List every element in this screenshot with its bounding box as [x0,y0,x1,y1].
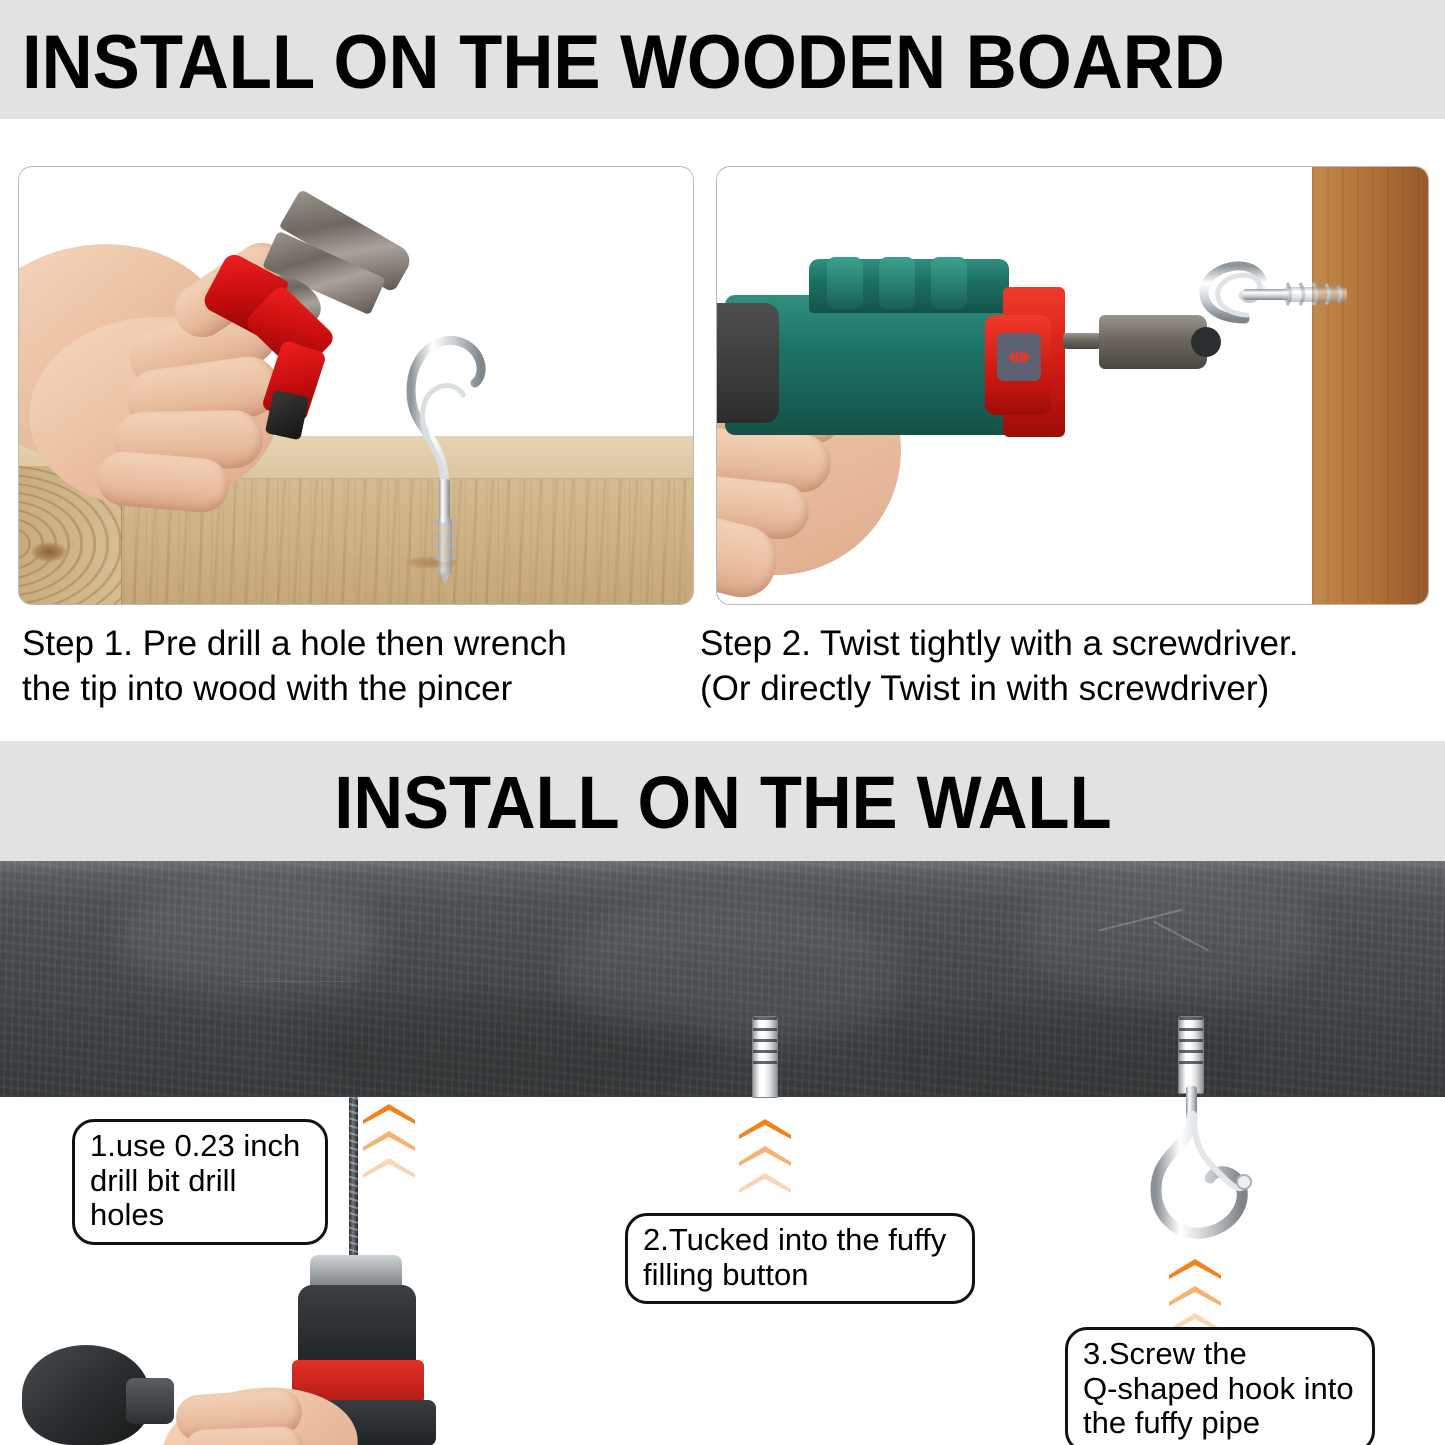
driver-vent [827,257,863,309]
plank-knot [31,542,67,562]
step1-photo-panel [18,166,694,605]
banner-wall-title: INSTALL ON THE WALL [334,766,1111,840]
chevron-up-icon [1168,1285,1222,1307]
callout-tucked-into-filling: 2.Tucked into the fuffy filling button [625,1213,975,1304]
wall-anchor-ribs [1179,1017,1203,1065]
step1-caption: Step 1. Pre drill a hole then wrench the… [22,622,692,712]
wall-anchor-body [1178,1016,1204,1094]
chevron-up-icon [738,1118,792,1140]
banner-install-wooden-board: INSTALL ON THE WOODEN BOARD [0,0,1445,119]
concrete-wall-image [0,861,1445,1097]
chevron-up-icon [1168,1258,1222,1280]
step2-caption: Step 2. Twist tightly with a screwdriver… [700,622,1440,712]
chevron-group-anchor [738,1118,792,1199]
callout-drill-holes: 1.use 0.23 inch drill bit drill holes [72,1119,328,1245]
wall-blotch [300,1001,720,1091]
infographic-page: INSTALL ON THE WOODEN BOARD [0,0,1445,1445]
step2-photo-panel [716,166,1429,605]
drill-bit [349,1097,358,1265]
chevron-up-icon [362,1103,416,1125]
chevron-up-icon [362,1157,416,1179]
wall-blotch [1020,879,1320,999]
banner-wooden-title: INSTALL ON THE WOODEN BOARD [22,25,1225,101]
callout-screw-q-hook: 3.Screw the Q-shaped hook into the fuffy… [1065,1327,1375,1445]
driver-vent [879,257,915,309]
wall-anchor-body [752,1016,778,1098]
banner-install-wall: INSTALL ON THE WALL [0,741,1445,861]
chevron-up-icon [738,1172,792,1194]
middle-finger [183,1426,304,1445]
plier-handle-end [265,390,309,441]
wall-anchor-ribs [753,1017,777,1069]
wall-blotch [120,885,380,995]
wall-crack [240,981,360,982]
chevron-up-icon [362,1130,416,1152]
driver-direction-switch[interactable] [997,333,1041,381]
chevron-up-icon [738,1145,792,1167]
q-shaped-hook [1140,1086,1280,1256]
screw-hook-image [393,283,503,583]
driver-vent [931,257,967,309]
driver-rear-cap [716,303,779,423]
drill-battery-connector [126,1378,174,1424]
driver-shaft [1063,333,1101,349]
q-hook-in-post-image [1187,227,1377,407]
chevron-group-drill [362,1103,416,1184]
direction-arrows-icon [997,333,1041,381]
